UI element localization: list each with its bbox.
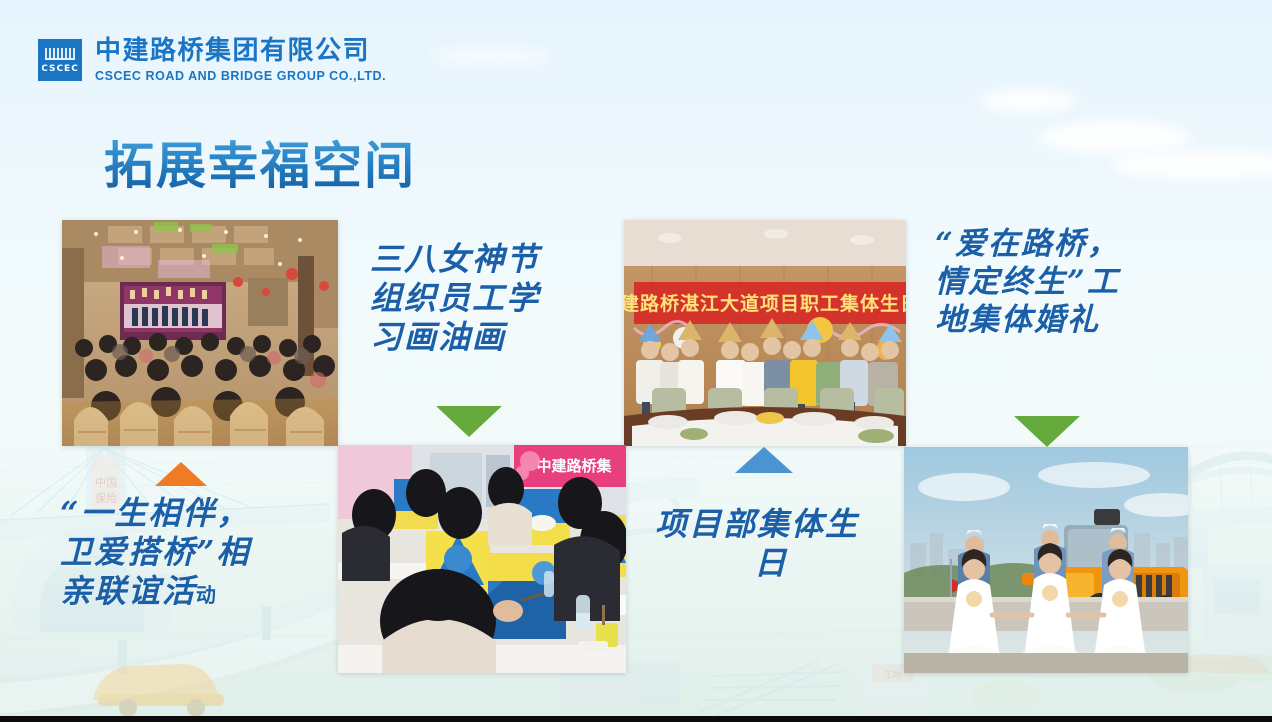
photo-painting-class: 中建路桥集: [338, 445, 626, 673]
caption-line: 组织员工学: [370, 279, 570, 318]
cloud-shape: [980, 90, 1076, 112]
caption-line: 项目部集体生: [655, 505, 887, 544]
photo-banner-text: 中建路桥集: [536, 457, 612, 475]
svg-text:中国: 中国: [95, 476, 117, 489]
caption-line: 习画油画: [370, 318, 570, 357]
cscec-logo-icon: CSCEC: [38, 39, 82, 81]
photo-birthday-party: 中建路桥湛江大道项目职工集体生日会: [624, 220, 906, 446]
company-name-en: CSCEC ROAD AND BRIDGE GROUP CO.,LTD.: [95, 70, 386, 83]
photo-wedding-brides: [904, 447, 1188, 673]
caption-line: 亲联谊活: [60, 572, 196, 610]
photo-annual-gala-image: [62, 220, 338, 446]
company-name-cn: 中建路桥集团有限公司: [95, 38, 386, 64]
company-logo-header: CSCEC 中建路桥集团有限公司 CSCEC ROAD AND BRIDGE G…: [38, 38, 386, 83]
caption-group-wedding: “爱在路桥， 情定终生”工 地集体婚礼: [935, 226, 1170, 339]
caption-line: 三八女神节: [370, 240, 570, 279]
arrow-down-green-right: [1014, 416, 1080, 447]
caption-line: “一生相伴，: [60, 494, 310, 533]
caption-line: 情定终生”工: [935, 264, 1170, 302]
caption-line: 卫爱搭桥”相: [60, 533, 310, 572]
page-title: 拓展幸福空间: [104, 126, 416, 198]
caption-line: “爱在路桥，: [935, 226, 1170, 264]
svg-text:工地: 工地: [884, 669, 902, 681]
cloud-shape: [1110, 150, 1272, 180]
photo-annual-gala: [62, 220, 338, 446]
photo-banner-text: 中建路桥湛江大道项目职工集体生日会: [624, 292, 906, 315]
arrow-down-green-left: [436, 406, 502, 437]
caption-line: 地集体婚礼: [935, 302, 1170, 340]
cloud-shape: [1040, 120, 1190, 154]
cloud-shape: [430, 46, 550, 66]
arrow-up-blue-center: [735, 447, 793, 473]
photo-birthday-party-image: 中建路桥湛江大道项目职工集体生日会: [624, 220, 906, 446]
photo-painting-class-image: 中建路桥集: [338, 445, 626, 673]
caption-group-birthday: 项目部集体生 日: [655, 505, 887, 583]
caption-line-with-tail: 亲联谊活动: [60, 572, 310, 611]
presentation-slide: 中国 保险: [0, 0, 1272, 722]
caption-womens-day-painting: 三八女神节 组织员工学 习画油画: [370, 240, 570, 357]
caption-line: 日: [655, 544, 887, 583]
svg-text:CSCEC: CSCEC: [42, 64, 78, 74]
photo-wedding-brides-image: [904, 447, 1188, 673]
arrow-up-orange-left: [155, 462, 207, 486]
caption-matchmaking: “一生相伴， 卫爱搭桥”相 亲联谊活动: [60, 494, 310, 611]
caption-tail-char: 动: [196, 583, 216, 607]
car-yellow-graphic: [92, 664, 224, 717]
cscec-logo-glyph: CSCEC: [42, 44, 78, 76]
